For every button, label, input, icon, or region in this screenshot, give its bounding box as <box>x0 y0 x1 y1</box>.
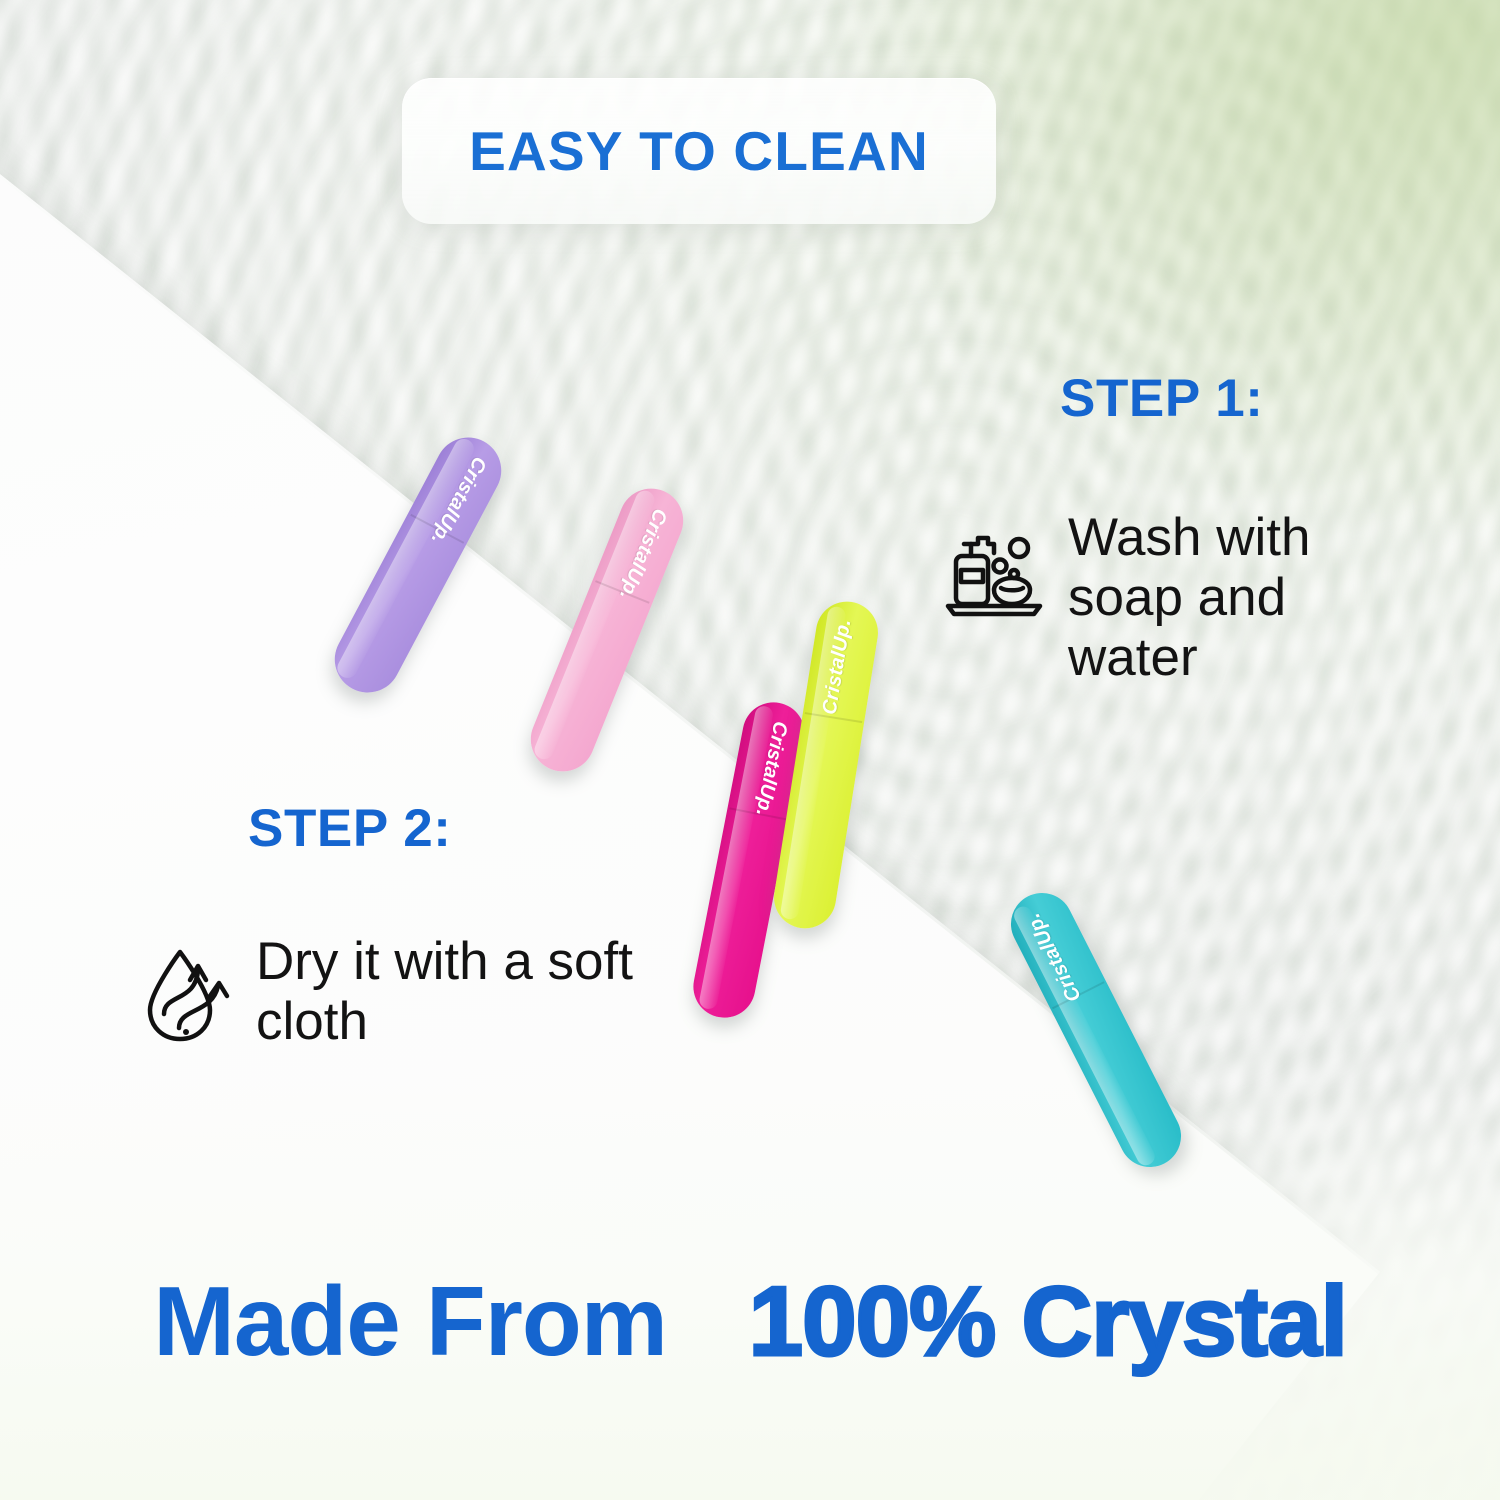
soap-dispenser-icon <box>944 524 1054 624</box>
footer-headline-light: Made From <box>153 1266 667 1376</box>
brand-logo: CristalUp. <box>819 617 865 717</box>
step-1-heading: STEP 1: <box>1060 368 1264 429</box>
footer-headline: Made From 100% Crystal <box>0 1272 1500 1370</box>
badge-label: EASY TO CLEAN <box>469 119 929 183</box>
step-2-heading: STEP 2: <box>248 798 452 859</box>
water-droplet-evaporation-icon <box>140 940 245 1050</box>
easy-to-clean-badge: EASY TO CLEAN <box>402 78 996 224</box>
brand-logo: CristalUp. <box>742 718 791 819</box>
promo-image-canvas: EASY TO CLEAN CristalUp. CristalUp. Cris… <box>0 0 1500 1500</box>
footer-headline-heavy: 100% Crystal <box>749 1266 1347 1376</box>
step-2-body: Dry it with a soft cloth <box>256 932 656 1052</box>
step-1-body: Wash with soap and water <box>1068 508 1428 688</box>
